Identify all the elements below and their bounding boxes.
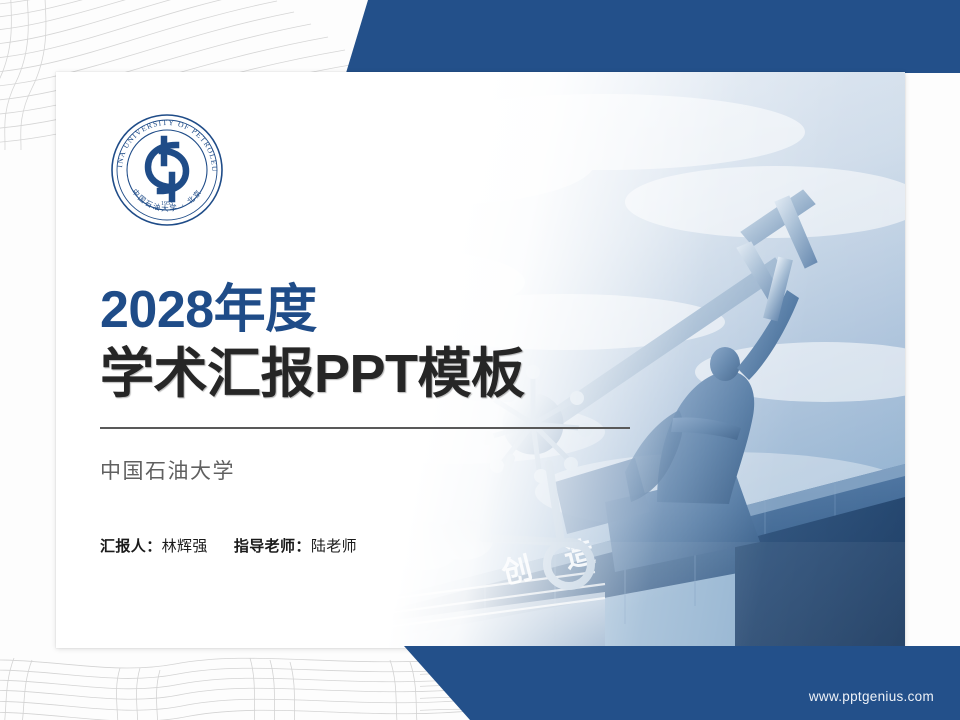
university-logo: CHINA UNIVERSITY OF PETROLEUM 中国石油大学 · 北… — [102, 105, 232, 235]
blue-wedge-top — [0, 0, 960, 73]
title-block: 2028年度 学术汇报PPT模板 中国石油大学 汇报人：林辉强指导老师：陆老师 — [100, 282, 660, 556]
presenter-name: 林辉强 — [162, 538, 208, 555]
title-main: 学术汇报PPT模板 — [100, 344, 660, 404]
footer-website-url[interactable]: www.pptgenius.com — [809, 689, 934, 704]
slide-canvas: 创 造 太 阳 — [0, 0, 960, 720]
title-divider — [100, 427, 630, 429]
advisor-name: 陆老师 — [311, 538, 357, 555]
subtitle-university: 中国石油大学 — [100, 455, 660, 485]
advisor-label: 指导老师： — [234, 538, 311, 555]
content-card: 创 造 太 阳 — [56, 72, 905, 648]
presenter-label: 汇报人： — [100, 538, 162, 555]
blue-wedge-bottom — [0, 646, 960, 720]
title-year: 2028年度 — [100, 282, 660, 338]
credits-line: 汇报人：林辉强指导老师：陆老师 — [100, 535, 660, 556]
